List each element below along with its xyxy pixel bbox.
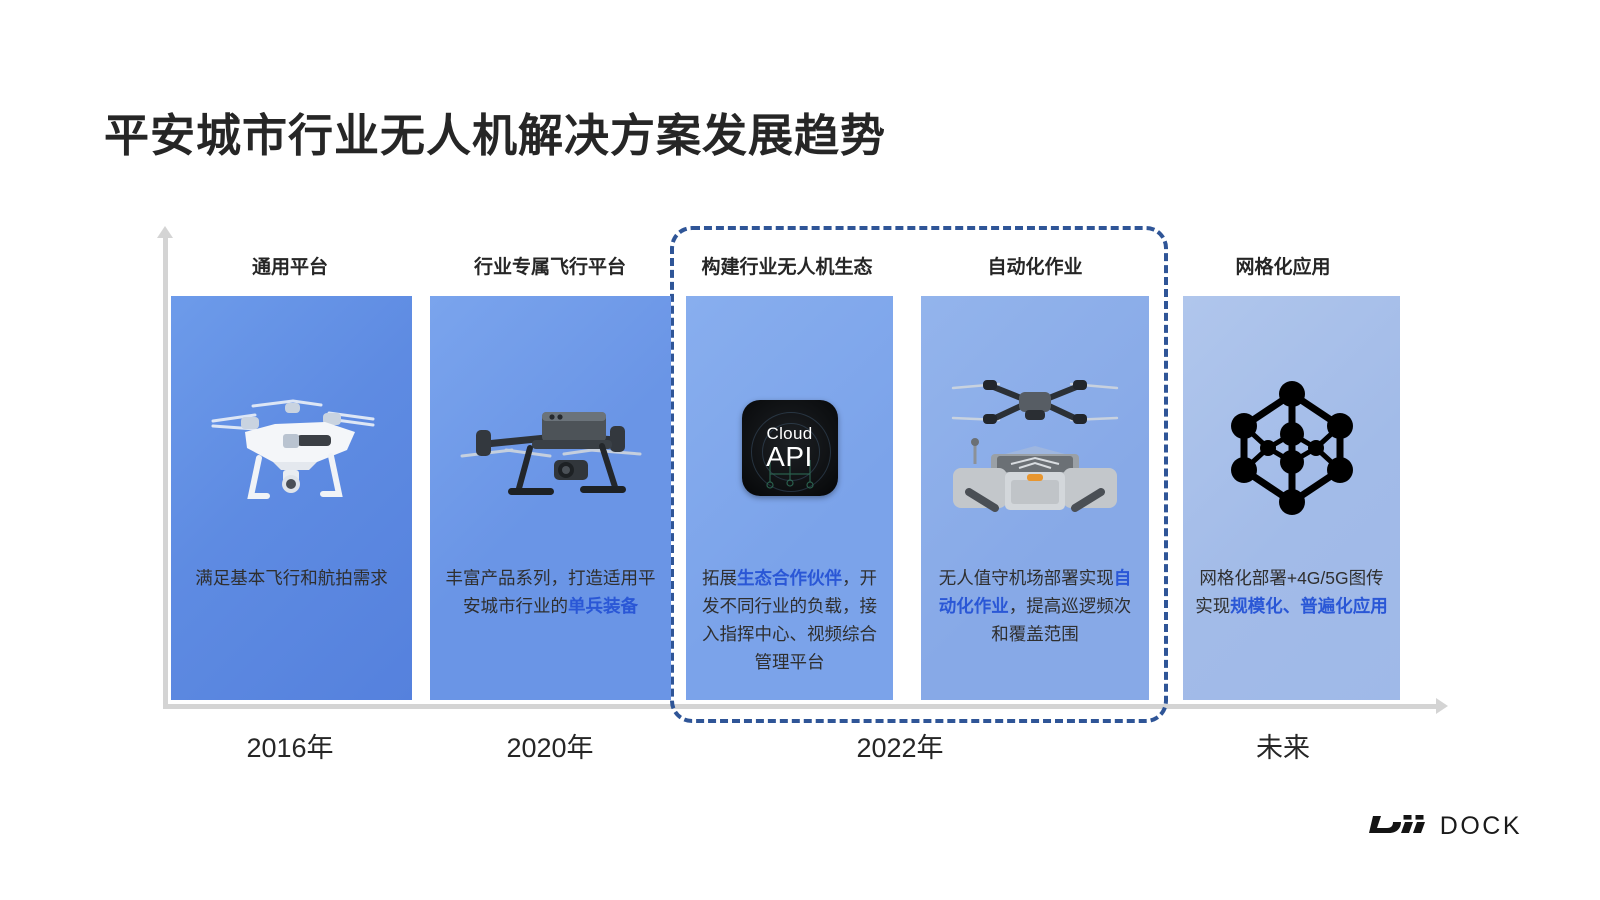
dji-dock-logo: DOCK xyxy=(1367,812,1522,841)
stage-header-4: 自动化作业 xyxy=(987,252,1082,279)
stage-header-3: 构建行业无人机生态 xyxy=(701,252,872,279)
network-mesh-image xyxy=(1183,348,1400,548)
network-mesh-icon xyxy=(1222,378,1362,518)
stage-card-1[interactable]: 满足基本飞行和航拍需求 xyxy=(171,296,412,700)
horizontal-axis-arrow-icon xyxy=(1436,698,1448,714)
stage-body-1: 满足基本飞行和航拍需求 xyxy=(183,564,400,592)
stage-body-3-seg-1: 生态合作伙伴 xyxy=(737,568,842,588)
stage-body-3: 拓展生态合作伙伴，开发不同行业的负载，接入指挥中心、视频综合管理平台 xyxy=(698,564,881,676)
stage-card-3[interactable]: Cloud API 拓展生态合作伙伴，开发不同行业的负载，接入指挥中心、视频综合… xyxy=(686,296,893,700)
stage-card-4[interactable]: 无人值守机场部署实现自动化作业，提高巡逻频次和覆盖范围 xyxy=(921,296,1149,700)
year-label-3: 2022年 xyxy=(856,726,943,765)
logo-text: DOCK xyxy=(1440,812,1522,841)
stage-header-2: 行业专属飞行平台 xyxy=(474,252,626,279)
stage-header-5: 网格化应用 xyxy=(1235,252,1330,279)
stage-body-1-seg-0: 满足基本飞行和航拍需求 xyxy=(195,568,388,588)
cloud-api-image: Cloud API xyxy=(686,348,893,548)
stage-body-4-seg-0: 无人值守机场部署实现 xyxy=(939,568,1114,588)
dock-station-image xyxy=(921,348,1149,548)
slide-canvas: 平安城市行业无人机解决方案发展趋势 通用平台 行业专属飞行平台 构建行业无人机生… xyxy=(0,0,1600,900)
stage-body-4: 无人值守机场部署实现自动化作业，提高巡逻频次和覆盖范围 xyxy=(933,564,1137,648)
year-label-1: 2016年 xyxy=(246,726,333,765)
phantom-drone-image xyxy=(171,348,412,548)
dji-logo-mark-icon xyxy=(1367,814,1431,840)
cloud-api-tile: Cloud API xyxy=(742,400,838,496)
year-label-2: 2020年 xyxy=(506,726,593,765)
stage-header-1: 通用平台 xyxy=(252,252,328,279)
stage-card-2[interactable]: 丰富产品系列，打造适用平安城市行业的单兵装备 xyxy=(430,296,671,700)
stage-body-4-seg-2: ，提高巡逻频次和覆盖范围 xyxy=(991,596,1131,644)
stage-body-5: 网格化部署+4G/5G图传实现规模化、普遍化应用 xyxy=(1195,564,1388,620)
vertical-axis-arrow-icon xyxy=(157,226,173,238)
cloud-api-line2: API xyxy=(766,443,813,471)
stage-body-3-seg-0: 拓展 xyxy=(702,568,737,588)
page-title: 平安城市行业无人机解决方案发展趋势 xyxy=(104,99,886,164)
stage-body-2: 丰富产品系列，打造适用平安城市行业的单兵装备 xyxy=(442,564,659,620)
stage-card-5[interactable]: 网格化部署+4G/5G图传实现规模化、普遍化应用 xyxy=(1183,296,1400,700)
industrial-drone-image xyxy=(430,348,671,548)
vertical-axis-line xyxy=(163,236,168,708)
year-label-5: 未来 xyxy=(1256,726,1310,765)
stage-body-2-seg-1: 单兵装备 xyxy=(568,596,638,616)
stage-body-5-seg-1: 规模化、普遍化应用 xyxy=(1230,596,1388,616)
